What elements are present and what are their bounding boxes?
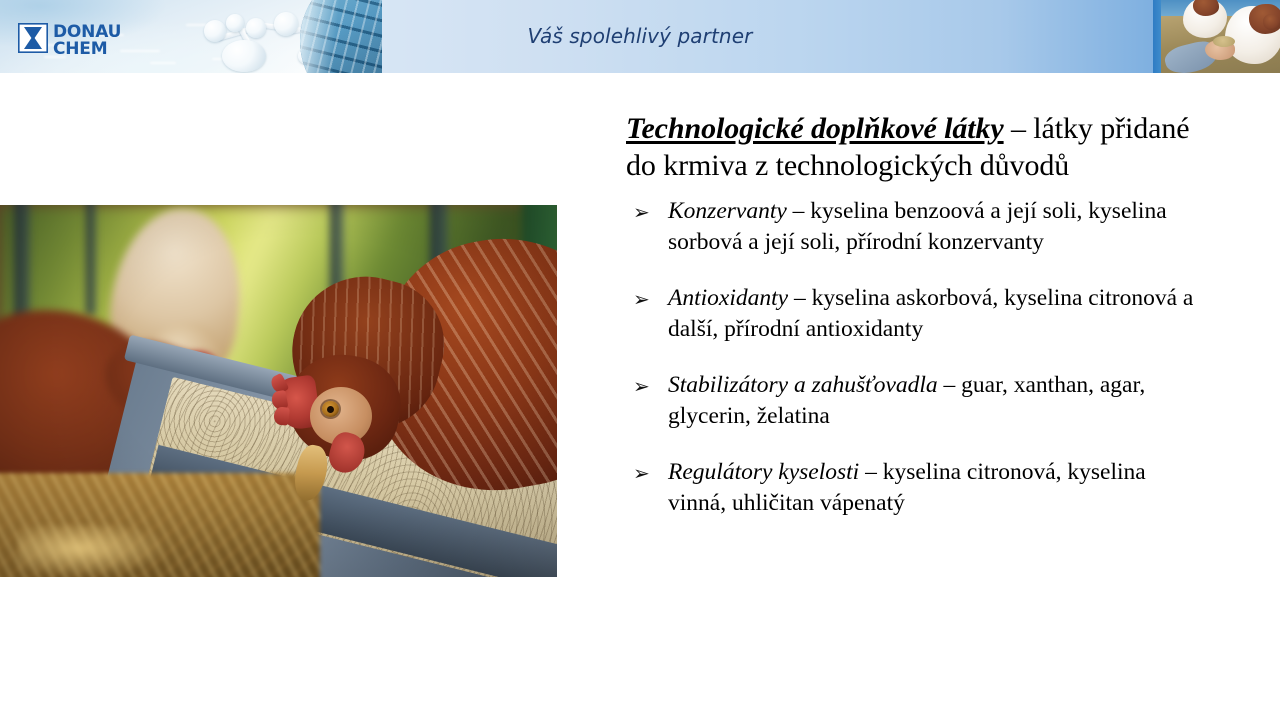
logo-wordmark: DONAU CHEM bbox=[53, 24, 121, 56]
logo-line-2: CHEM bbox=[53, 41, 121, 57]
arrow-bullet-icon: ➢ bbox=[633, 371, 650, 402]
list-item: ➢Konzervanty – kyselina benzoová a její … bbox=[626, 196, 1202, 258]
hourglass-mark-icon bbox=[18, 23, 48, 58]
tagline-wrapper: Váš spolehlivý partner bbox=[0, 0, 1280, 73]
list-item: ➢Stabilizátory a zahušťovadla – guar, xa… bbox=[626, 370, 1202, 432]
straw-highlight bbox=[18, 525, 168, 577]
donau-chem-logo[interactable]: DONAU CHEM bbox=[18, 23, 121, 58]
arrow-bullet-icon: ➢ bbox=[633, 197, 650, 228]
hens-eating-feed-photo bbox=[0, 205, 557, 577]
coop-post bbox=[86, 205, 96, 315]
arrow-bullet-icon: ➢ bbox=[633, 458, 650, 489]
bullet-list: ➢Konzervanty – kyselina benzoová a její … bbox=[626, 196, 1202, 519]
bullet-term: Stabilizátory a zahušťovadla bbox=[668, 372, 938, 398]
slide-title: Technologické doplňkové látky – látky př… bbox=[626, 110, 1202, 184]
bullet-term: Konzervanty bbox=[668, 198, 787, 224]
title-emphasis: Technologické doplňkové látky bbox=[626, 112, 1004, 145]
bullet-term: Antioxidanty bbox=[668, 285, 788, 311]
arrow-bullet-icon: ➢ bbox=[633, 284, 650, 315]
main-hen-pupil bbox=[327, 406, 334, 413]
tagline: Váš spolehlivý partner bbox=[528, 24, 753, 50]
list-item: ➢Regulátory kyselosti – kyselina citrono… bbox=[626, 457, 1202, 519]
header-banner: Váš spolehlivý partner DONAU CHEM bbox=[0, 0, 1280, 73]
bullet-term: Regulátory kyselosti bbox=[668, 459, 859, 485]
slide: Váš spolehlivý partner DONAU CHEM bbox=[0, 0, 1280, 720]
comb-spike bbox=[273, 406, 290, 425]
list-item: ➢Antioxidanty – kyselina askorbová, kyse… bbox=[626, 283, 1202, 345]
content-column: Technologické doplňkové látky – látky př… bbox=[626, 110, 1202, 519]
